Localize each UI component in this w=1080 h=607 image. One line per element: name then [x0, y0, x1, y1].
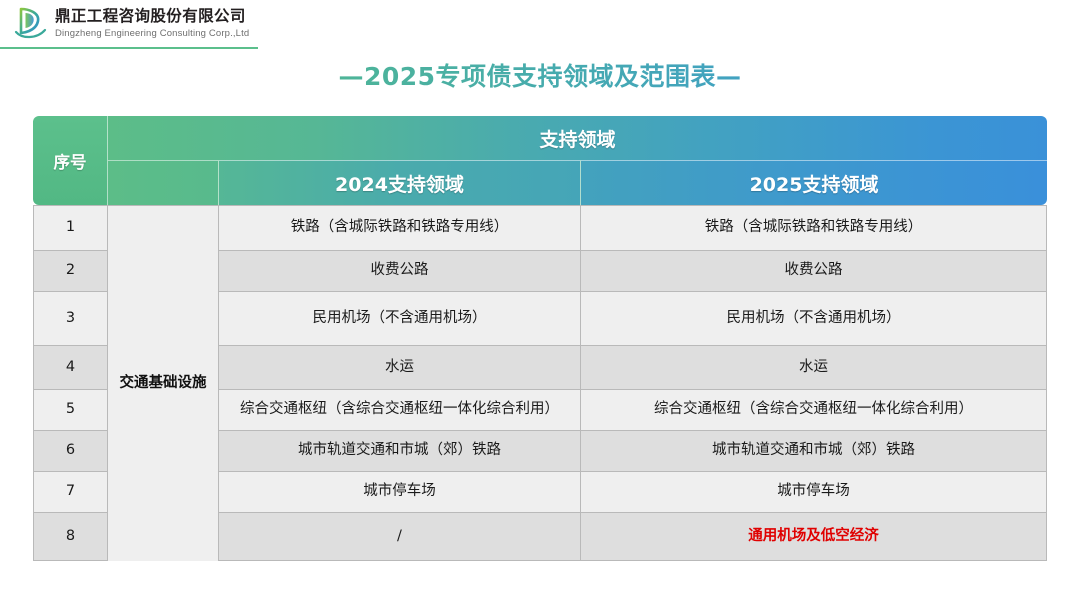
cell-sequence-number: 6: [33, 431, 108, 472]
table-body: 1交通基础设施铁路（含城际铁路和铁路专用线）铁路（含城际铁路和铁路专用线）2收费…: [33, 205, 1047, 561]
cell-sequence-number: 5: [33, 390, 108, 431]
cell-support-2024: 水运: [219, 346, 581, 390]
support-scope-table: 序号 支持领域 2024支持领域 2025支持领域 1交通基础设施铁路（含城际铁…: [33, 116, 1047, 561]
cell-category-transport-infrastructure: 交通基础设施: [108, 205, 219, 561]
cell-sequence-number: 4: [33, 346, 108, 390]
support-scope-table-wrapper: 序号 支持领域 2024支持领域 2025支持领域 1交通基础设施铁路（含城际铁…: [33, 116, 1047, 561]
cell-support-2024: 综合交通枢纽（含综合交通枢纽一体化综合利用）: [219, 390, 581, 431]
cell-support-2025: 民用机场（不含通用机场）: [581, 292, 1047, 346]
brand-divider: [0, 47, 258, 49]
cell-sequence-number: 3: [33, 292, 108, 346]
cell-sequence-number: 8: [33, 513, 108, 561]
cell-support-2024: 城市停车场: [219, 472, 581, 513]
dingzheng-d-logo-icon: [14, 6, 48, 42]
cell-support-2024: 民用机场（不含通用机场）: [219, 292, 581, 346]
brand-header: 鼎正工程咨询股份有限公司 Dingzheng Engineering Consu…: [0, 0, 1080, 48]
cell-support-2024: 铁路（含城际铁路和铁路专用线）: [219, 205, 581, 251]
cell-support-2024: 收费公路: [219, 251, 581, 292]
cell-support-2025: 铁路（含城际铁路和铁路专用线）: [581, 205, 1047, 251]
cell-support-2025: 综合交通枢纽（含综合交通枢纽一体化综合利用）: [581, 390, 1047, 431]
cell-support-2024: 城市轨道交通和市城（郊）铁路: [219, 431, 581, 472]
cell-support-2025: 城市停车场: [581, 472, 1047, 513]
table-row: 1交通基础设施铁路（含城际铁路和铁路专用线）铁路（含城际铁路和铁路专用线）: [33, 205, 1047, 251]
th-sequence: 序号: [33, 116, 108, 205]
th-category-blank: [108, 160, 219, 205]
cell-support-2025-highlighted: 通用机场及低空经济: [581, 513, 1047, 561]
th-support-field-2025: 2025支持领域: [581, 160, 1047, 205]
cell-support-2025: 城市轨道交通和市城（郊）铁路: [581, 431, 1047, 472]
table-head-row-1: 序号 支持领域: [33, 116, 1047, 160]
cell-sequence-number: 1: [33, 205, 108, 251]
table-head-row-2: 2024支持领域 2025支持领域: [33, 160, 1047, 205]
th-support-field-2024: 2024支持领域: [219, 160, 581, 205]
table-head: 序号 支持领域 2024支持领域 2025支持领域: [33, 116, 1047, 205]
company-name-en: Dingzheng Engineering Consulting Corp.,L…: [55, 27, 249, 40]
th-group-support-field: 支持领域: [108, 116, 1047, 160]
cell-support-2024: /: [219, 513, 581, 561]
cell-sequence-number: 2: [33, 251, 108, 292]
cell-support-2025: 收费公路: [581, 251, 1047, 292]
cell-support-2025: 水运: [581, 346, 1047, 390]
page-title: —2025专项债支持领域及范围表—: [0, 57, 1080, 93]
cell-sequence-number: 7: [33, 472, 108, 513]
company-name-cn: 鼎正工程咨询股份有限公司: [55, 8, 249, 25]
